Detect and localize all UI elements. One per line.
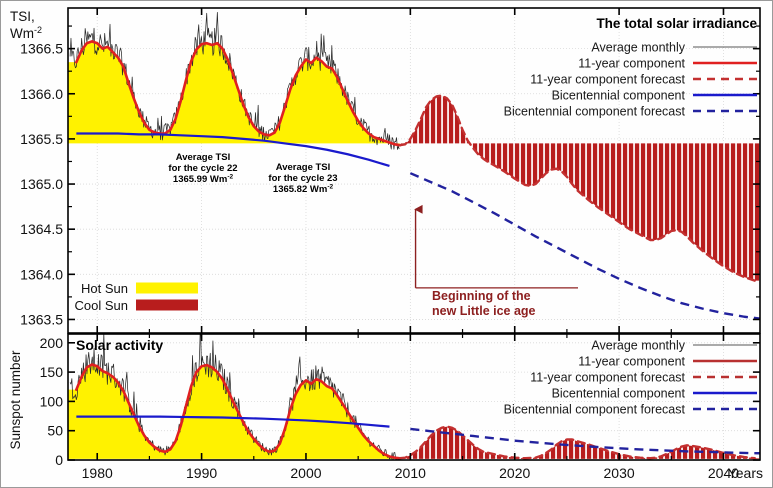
sun-key-swatch — [136, 283, 198, 294]
bottom-legend-item-label: 11-year component — [578, 355, 685, 369]
cycle-23-average-value: 1365.82 Wm-2 — [273, 184, 334, 196]
cycle-22-average-line: for the cycle 22 — [168, 163, 237, 174]
bottom-panel-ytick: 100 — [40, 393, 64, 409]
xaxis-tick: 2010 — [395, 465, 426, 481]
top-legend-item-label: Average monthly — [591, 41, 685, 55]
bottom-panel-ylabel: Sunspot number — [8, 350, 23, 450]
top-panel-ytick: 1364.5 — [20, 221, 63, 237]
xaxis-label: Years — [728, 465, 763, 481]
top-panel-ytick: 1366.0 — [20, 86, 63, 102]
little-ice-age-annotation: Beginning of the new Little ice age — [416, 209, 578, 318]
cycle-22-average-line: Average TSI — [176, 152, 231, 163]
top-legend-item-label: Bicentennial component forecast — [504, 105, 686, 119]
xaxis-tick: 1980 — [82, 465, 113, 481]
top-panel-ylabel-line2: Wm-2 — [10, 25, 42, 41]
xaxis-tick: 2020 — [499, 465, 530, 481]
top-legend-item-label: 11-year component forecast — [530, 73, 685, 87]
chart-canvas: 1363.51364.01364.51365.01365.51366.01366… — [0, 0, 773, 488]
top-panel-ylabel-line1: TSI, — [10, 9, 35, 24]
solar-irradiance-figure: 1363.51364.01364.51365.01365.51366.01366… — [0, 0, 773, 488]
top-panel-ytick: 1365.5 — [20, 131, 63, 147]
ice-age-text-line1: Beginning of the — [432, 289, 531, 303]
top-panel-legend-title: The total solar irradiance — [596, 16, 757, 31]
bottom-panel-ytick: 150 — [40, 364, 64, 380]
xaxis-tick: 1990 — [186, 465, 217, 481]
xaxis-tick: 2030 — [604, 465, 635, 481]
bottom-panel-legend: Average monthly11-year component11-year … — [504, 339, 757, 417]
bottom-legend-item-label: Average monthly — [591, 339, 685, 353]
bottom-panel-ytick: 200 — [40, 335, 64, 351]
sun-key-label: Cool Sun — [75, 298, 128, 313]
bottom-legend-item-label: Bicentennial component — [552, 387, 686, 401]
top-panel-annotations: Average TSIfor the cycle 221365.99 Wm-2A… — [168, 152, 337, 195]
sun-key-swatch — [136, 300, 198, 311]
top-legend-item-label: 11-year component — [578, 57, 685, 71]
xaxis-tick: 2000 — [290, 465, 321, 481]
bottom-panel-title: Solar activity — [76, 337, 163, 353]
bottom-legend-item-label: Bicentennial component forecast — [504, 403, 686, 417]
top-legend-item-label: Bicentennial component — [552, 89, 686, 103]
top-panel-ytick: 1364.0 — [20, 266, 63, 282]
bottom-legend-item-label: 11-year component forecast — [530, 371, 685, 385]
top-panel-ytick: 1366.5 — [20, 41, 63, 57]
cycle-22-average-value: 1365.99 Wm-2 — [173, 174, 234, 186]
top-panel-ytick: 1363.5 — [20, 311, 63, 327]
sun-temperature-key: Hot SunCool Sun — [75, 281, 198, 313]
sun-key-label: Hot Sun — [81, 281, 128, 296]
bottom-panel-ytick: 0 — [55, 452, 63, 468]
bottom-panel-ytick: 50 — [47, 423, 63, 439]
top-panel-legend: Average monthly11-year component11-year … — [504, 41, 757, 119]
cycle-23-average-line: for the cycle 23 — [268, 173, 337, 184]
top-panel-ytick: 1365.0 — [20, 176, 63, 192]
cycle-23-average-line: Average TSI — [276, 162, 331, 173]
ice-age-text-line2: new Little ice age — [432, 304, 536, 318]
